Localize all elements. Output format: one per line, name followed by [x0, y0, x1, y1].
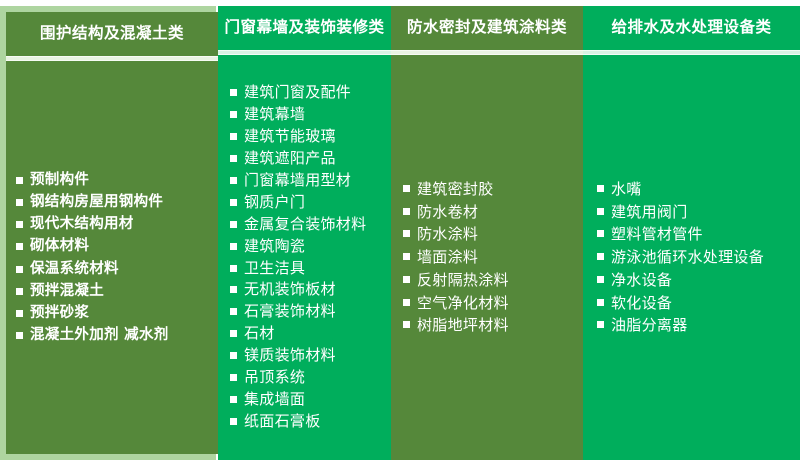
square-bullet-icon [597, 299, 604, 306]
list-item[interactable]: 建筑遮阳产品 [230, 148, 387, 170]
category-column-doors-windows-decoration[interactable]: 门窗幕墙及装饰装修类 建筑门窗及配件 建筑幕墙 建筑节能玻璃 [218, 6, 391, 460]
list-item[interactable]: 反射隔热涂料 [403, 269, 579, 292]
list-item-label: 墙面涂料 [417, 246, 579, 269]
list-item-label: 保温系统材料 [30, 258, 214, 280]
list-item[interactable]: 预拌混凝土 [16, 280, 214, 302]
list-item[interactable]: 现代木结构用材 [16, 213, 214, 235]
square-bullet-icon [16, 288, 23, 295]
list-item-label: 砌体材料 [30, 235, 214, 257]
list-item-label: 镁质装饰材料 [244, 345, 387, 367]
list-item-label: 建筑密封胶 [417, 178, 579, 201]
list-item[interactable]: 预拌砂浆 [16, 302, 214, 324]
list-item-label: 软化设备 [611, 292, 796, 315]
list-item[interactable]: 建筑节能玻璃 [230, 126, 387, 148]
square-bullet-icon [403, 230, 410, 237]
list-item-label: 集成墙面 [244, 389, 387, 411]
square-bullet-icon [230, 89, 237, 96]
list-item[interactable]: 钢结构房屋用钢构件 [16, 191, 214, 213]
list-item-label: 钢质户门 [244, 192, 387, 214]
list-item-label: 空气净化材料 [417, 292, 579, 315]
category-column-waterproof-coatings[interactable]: 防水密封及建筑涂料类 建筑密封胶 防水卷材 防水涂料 [391, 6, 583, 460]
list-item[interactable]: 无机装饰板材 [230, 279, 387, 301]
square-bullet-icon [16, 332, 23, 339]
list-item[interactable]: 预制构件 [16, 169, 214, 191]
list-item[interactable]: 游泳池循环水处理设备 [597, 246, 796, 269]
category-columns: 围护结构及混凝土类 预制构件 钢结构房屋用钢构件 现代木结构用材 [0, 0, 800, 460]
column-header: 围护结构及混凝土类 [6, 12, 218, 56]
list-item[interactable]: 塑料管材管件 [597, 223, 796, 246]
list-item[interactable]: 净水设备 [597, 269, 796, 292]
square-bullet-icon [230, 133, 237, 140]
column-title: 防水密封及建筑涂料类 [407, 19, 567, 36]
list-item-label: 石膏装饰材料 [244, 301, 387, 323]
list-item-label: 游泳池循环水处理设备 [611, 246, 796, 269]
square-bullet-icon [230, 396, 237, 403]
list-item-label: 建筑节能玻璃 [244, 126, 387, 148]
list-item[interactable]: 石材 [230, 323, 387, 345]
item-list: 建筑门窗及配件 建筑幕墙 建筑节能玻璃 建筑遮阳产品 [230, 82, 387, 432]
square-bullet-icon [230, 243, 237, 250]
square-bullet-icon [403, 185, 410, 192]
square-bullet-icon [16, 177, 23, 184]
column-body: 预制构件 钢结构房屋用钢构件 现代木结构用材 砌体材料 [6, 61, 218, 454]
list-item[interactable]: 水嘴 [597, 178, 796, 201]
item-list: 水嘴 建筑用阀门 塑料管材管件 游泳池循环水处理设备 [597, 178, 796, 338]
square-bullet-icon [403, 208, 410, 215]
column-title: 围护结构及混凝土类 [40, 25, 184, 42]
list-item-label: 树脂地坪材料 [417, 314, 579, 337]
column-header: 门窗幕墙及装饰装修类 [218, 6, 391, 50]
list-item[interactable]: 建筑用阀门 [597, 201, 796, 224]
list-item[interactable]: 建筑门窗及配件 [230, 82, 387, 104]
list-item[interactable]: 门窗幕墙用型材 [230, 170, 387, 192]
list-item-label: 塑料管材管件 [611, 223, 796, 246]
list-item[interactable]: 混凝土外加剂 减水剂 [16, 324, 214, 346]
list-item-label: 石材 [244, 323, 387, 345]
list-item[interactable]: 镁质装饰材料 [230, 345, 387, 367]
list-item-label: 油脂分离器 [611, 314, 796, 337]
square-bullet-icon [230, 111, 237, 118]
list-item[interactable]: 软化设备 [597, 292, 796, 315]
category-board: 围护结构及混凝土类 预制构件 钢结构房屋用钢构件 现代木结构用材 [0, 0, 800, 466]
list-item-label: 钢结构房屋用钢构件 [30, 191, 214, 213]
list-item[interactable]: 石膏装饰材料 [230, 301, 387, 323]
square-bullet-icon [597, 276, 604, 283]
square-bullet-icon [597, 185, 604, 192]
square-bullet-icon [16, 266, 23, 273]
square-bullet-icon [230, 155, 237, 162]
list-item[interactable]: 吊顶系统 [230, 367, 387, 389]
square-bullet-icon [597, 321, 604, 328]
category-column-water-supply-treatment[interactable]: 给排水及水处理设备类 水嘴 建筑用阀门 塑料管材管件 [583, 6, 800, 460]
list-item[interactable]: 金属复合装饰材料 [230, 214, 387, 236]
square-bullet-icon [230, 352, 237, 359]
square-bullet-icon [230, 330, 237, 337]
list-item[interactable]: 纸面石膏板 [230, 411, 387, 433]
list-item[interactable]: 防水涂料 [403, 223, 579, 246]
list-item[interactable]: 树脂地坪材料 [403, 314, 579, 337]
item-list: 建筑密封胶 防水卷材 防水涂料 墙面涂料 [403, 178, 579, 338]
list-item[interactable]: 砌体材料 [16, 235, 214, 257]
square-bullet-icon [230, 199, 237, 206]
list-item-label: 建筑用阀门 [611, 201, 796, 224]
square-bullet-icon [16, 221, 23, 228]
list-item-label: 金属复合装饰材料 [244, 214, 387, 236]
list-item[interactable]: 油脂分离器 [597, 314, 796, 337]
column-title: 门窗幕墙及装饰装修类 [224, 19, 384, 36]
list-item-label: 混凝土外加剂 减水剂 [30, 324, 214, 346]
list-item-label: 纸面石膏板 [244, 411, 387, 433]
column-body: 建筑门窗及配件 建筑幕墙 建筑节能玻璃 建筑遮阳产品 [218, 55, 391, 460]
list-item-label: 门窗幕墙用型材 [244, 170, 387, 192]
square-bullet-icon [16, 243, 23, 250]
list-item-label: 卫生洁具 [244, 258, 387, 280]
list-item-label: 净水设备 [611, 269, 796, 292]
square-bullet-icon [597, 253, 604, 260]
list-item[interactable]: 钢质户门 [230, 192, 387, 214]
column-header: 给排水及水处理设备类 [583, 6, 800, 50]
square-bullet-icon [403, 321, 410, 328]
category-column-envelope-concrete[interactable]: 围护结构及混凝土类 预制构件 钢结构房屋用钢构件 现代木结构用材 [6, 12, 218, 454]
column-body: 水嘴 建筑用阀门 塑料管材管件 游泳池循环水处理设备 [583, 55, 800, 460]
list-item-label: 无机装饰板材 [244, 279, 387, 301]
list-item[interactable]: 墙面涂料 [403, 246, 579, 269]
list-item-label: 现代木结构用材 [30, 213, 214, 235]
list-item-label: 防水涂料 [417, 223, 579, 246]
list-item[interactable]: 集成墙面 [230, 389, 387, 411]
square-bullet-icon [230, 374, 237, 381]
list-item[interactable]: 防水卷材 [403, 201, 579, 224]
list-item-label: 建筑幕墙 [244, 104, 387, 126]
list-item-label: 预拌混凝土 [30, 280, 214, 302]
square-bullet-icon [16, 310, 23, 317]
square-bullet-icon [230, 265, 237, 272]
list-item-label: 建筑门窗及配件 [244, 82, 387, 104]
square-bullet-icon [16, 199, 23, 206]
square-bullet-icon [403, 253, 410, 260]
square-bullet-icon [230, 286, 237, 293]
square-bullet-icon [230, 418, 237, 425]
list-item-label: 预制构件 [30, 169, 214, 191]
square-bullet-icon [230, 177, 237, 184]
list-item-label: 防水卷材 [417, 201, 579, 224]
column-body: 建筑密封胶 防水卷材 防水涂料 墙面涂料 [391, 55, 583, 460]
list-item[interactable]: 卫生洁具 [230, 258, 387, 280]
list-item[interactable]: 建筑幕墙 [230, 104, 387, 126]
column-title: 给排水及水处理设备类 [611, 19, 771, 36]
list-item-label: 反射隔热涂料 [417, 269, 579, 292]
list-item-label: 吊顶系统 [244, 367, 387, 389]
list-item-label: 建筑陶瓷 [244, 236, 387, 258]
square-bullet-icon [230, 221, 237, 228]
list-item-label: 预拌砂浆 [30, 302, 214, 324]
square-bullet-icon [403, 276, 410, 283]
list-item[interactable]: 空气净化材料 [403, 292, 579, 315]
column-header: 防水密封及建筑涂料类 [391, 6, 583, 50]
list-item[interactable]: 建筑密封胶 [403, 178, 579, 201]
square-bullet-icon [230, 308, 237, 315]
square-bullet-icon [597, 230, 604, 237]
list-item-label: 水嘴 [611, 178, 796, 201]
item-list: 预制构件 钢结构房屋用钢构件 现代木结构用材 砌体材料 [16, 169, 214, 345]
list-item[interactable]: 保温系统材料 [16, 258, 214, 280]
list-item[interactable]: 建筑陶瓷 [230, 236, 387, 258]
square-bullet-icon [597, 208, 604, 215]
list-item-label: 建筑遮阳产品 [244, 148, 387, 170]
square-bullet-icon [403, 299, 410, 306]
